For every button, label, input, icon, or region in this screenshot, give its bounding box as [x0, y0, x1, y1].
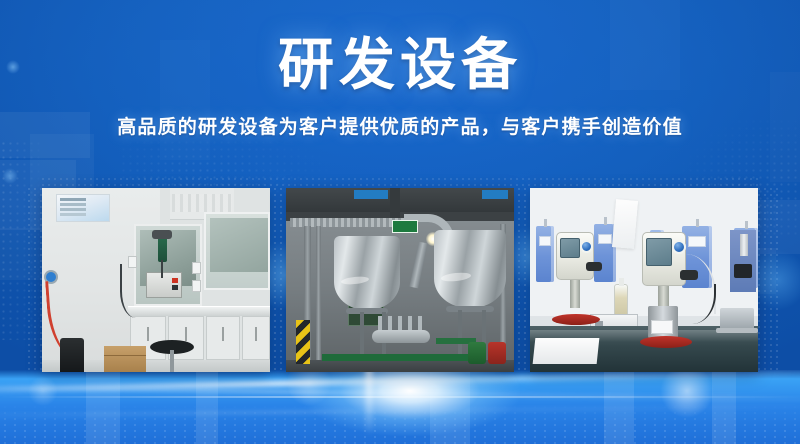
- banner-header: 研发设备 高品质的研发设备为客户提供优质的产品，与客户携手创造价值: [0, 34, 800, 139]
- light-burst-icon: [300, 370, 520, 436]
- wall-poster: [56, 194, 110, 222]
- reagent-bottle: [614, 284, 628, 318]
- photo-reactor-scene: [286, 188, 514, 372]
- photo-laboratory-scene: [42, 188, 270, 372]
- gallery-photo-reactor-tanks[interactable]: [286, 188, 514, 372]
- photo-instruments-scene: [530, 188, 758, 372]
- reactor-tank-left: [334, 236, 400, 310]
- gallery-photo-test-instruments[interactable]: [530, 188, 758, 372]
- safety-sign: [392, 220, 418, 233]
- hazard-stripe: [296, 320, 310, 364]
- gallery-photo-laboratory[interactable]: [42, 188, 270, 372]
- photo-gallery: [42, 188, 758, 372]
- bottom-light-band: [0, 370, 800, 444]
- fume-hood-right: [204, 212, 270, 290]
- research-equipment-banner: 研发设备 高品质的研发设备为客户提供优质的产品，与客户携手创造价值: [0, 0, 800, 444]
- page-subtitle: 高品质的研发设备为客户提供优质的产品，与客户携手创造价值: [0, 112, 800, 139]
- reactor-tank-right: [434, 230, 506, 308]
- page-title: 研发设备: [0, 34, 800, 96]
